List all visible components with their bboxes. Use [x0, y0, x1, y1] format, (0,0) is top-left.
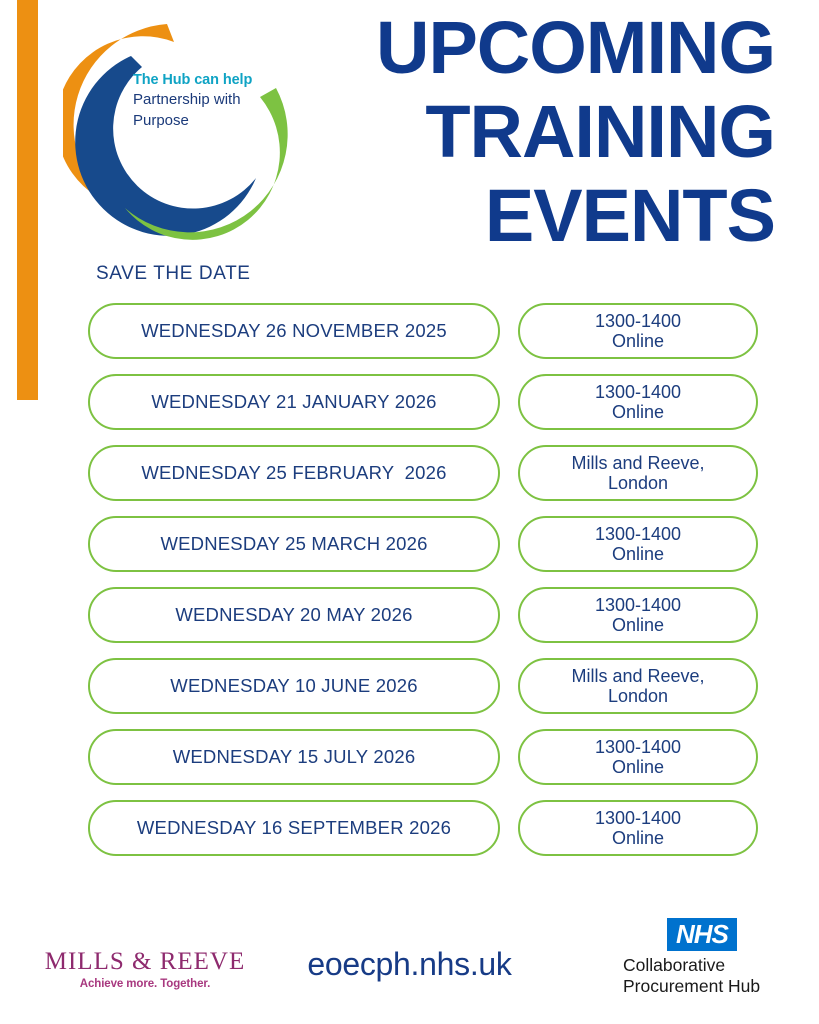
event-location-pill[interactable]: 1300-1400 Online — [518, 374, 758, 430]
title-line-3: EVENTS — [215, 174, 775, 258]
event-date-pill[interactable]: WEDNESDAY 25 MARCH 2026 — [88, 516, 500, 572]
event-location-line-2: Online — [612, 402, 664, 422]
event-date-pill[interactable]: WEDNESDAY 21 JANUARY 2026 — [88, 374, 500, 430]
event-location-line-1: 1300-1400 — [595, 382, 681, 402]
nhs-logo: NHS Collaborative Procurement Hub — [623, 918, 783, 997]
nhs-blue-box: NHS — [667, 918, 737, 951]
event-row: WEDNESDAY 25 FEBRUARY 2026 Mills and Ree… — [0, 445, 819, 516]
save-the-date-label: SAVE THE DATE — [96, 263, 251, 285]
event-location-line-1: 1300-1400 — [595, 311, 681, 331]
event-row: WEDNESDAY 26 NOVEMBER 2025 1300-1400 Onl… — [0, 303, 819, 374]
event-row: WEDNESDAY 16 SEPTEMBER 2026 1300-1400 On… — [0, 800, 819, 871]
event-location-pill[interactable]: 1300-1400 Online — [518, 303, 758, 359]
event-date-pill[interactable]: WEDNESDAY 20 MAY 2026 — [88, 587, 500, 643]
event-location-line-2: Online — [612, 331, 664, 351]
footer: MILLS & REEVE Achieve more. Together. eo… — [0, 900, 819, 1024]
event-location-line-1: Mills and Reeve, — [571, 666, 704, 686]
nhs-sub-line-2: Procurement Hub — [623, 976, 783, 997]
event-row: WEDNESDAY 21 JANUARY 2026 1300-1400 Onli… — [0, 374, 819, 445]
event-location-pill[interactable]: Mills and Reeve, London — [518, 445, 758, 501]
nhs-wordmark: NHS — [676, 920, 728, 948]
event-location-pill[interactable]: Mills and Reeve, London — [518, 658, 758, 714]
event-location-pill[interactable]: 1300-1400 Online — [518, 516, 758, 572]
title-line-1: UPCOMING — [215, 6, 775, 90]
page-title: UPCOMING TRAINING EVENTS — [215, 6, 775, 258]
event-location-line-2: London — [608, 473, 668, 493]
title-line-2: TRAINING — [215, 90, 775, 174]
event-location-line-1: 1300-1400 — [595, 808, 681, 828]
event-date-pill[interactable]: WEDNESDAY 16 SEPTEMBER 2026 — [88, 800, 500, 856]
event-location-pill[interactable]: 1300-1400 Online — [518, 729, 758, 785]
event-location-line-2: London — [608, 686, 668, 706]
event-row: WEDNESDAY 20 MAY 2026 1300-1400 Online — [0, 587, 819, 658]
event-location-line-2: Online — [612, 615, 664, 635]
event-location-line-1: 1300-1400 — [595, 737, 681, 757]
event-date-pill[interactable]: WEDNESDAY 26 NOVEMBER 2025 — [88, 303, 500, 359]
event-location-line-1: Mills and Reeve, — [571, 453, 704, 473]
event-location-pill[interactable]: 1300-1400 Online — [518, 800, 758, 856]
events-list: WEDNESDAY 26 NOVEMBER 2025 1300-1400 Onl… — [0, 303, 819, 871]
event-location-line-2: Online — [612, 757, 664, 777]
poster-canvas: The Hub can help Partnership with Purpos… — [0, 0, 819, 1024]
event-date-pill[interactable]: WEDNESDAY 25 FEBRUARY 2026 — [88, 445, 500, 501]
event-location-line-1: 1300-1400 — [595, 595, 681, 615]
event-date-pill[interactable]: WEDNESDAY 10 JUNE 2026 — [88, 658, 500, 714]
nhs-sub-line-1: Collaborative — [623, 955, 783, 976]
event-row: WEDNESDAY 10 JUNE 2026 Mills and Reeve, … — [0, 658, 819, 729]
event-location-line-1: 1300-1400 — [595, 524, 681, 544]
nhs-sub-label: Collaborative Procurement Hub — [623, 955, 783, 997]
event-date-pill[interactable]: WEDNESDAY 15 JULY 2026 — [88, 729, 500, 785]
event-row: WEDNESDAY 15 JULY 2026 1300-1400 Online — [0, 729, 819, 800]
event-location-pill[interactable]: 1300-1400 Online — [518, 587, 758, 643]
event-row: WEDNESDAY 25 MARCH 2026 1300-1400 Online — [0, 516, 819, 587]
event-location-line-2: Online — [612, 828, 664, 848]
event-location-line-2: Online — [612, 544, 664, 564]
